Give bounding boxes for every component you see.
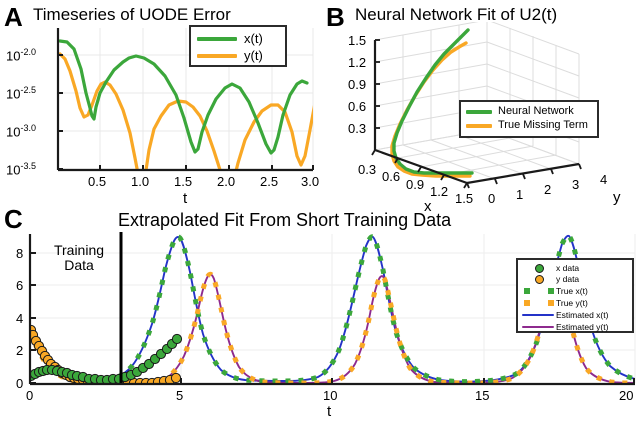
panel-a-legend-label-0: x(t) [244, 32, 263, 45]
legend-swatch-est-y [522, 326, 556, 328]
legend-swatch-x-data [522, 264, 556, 273]
legend-swatch-est-x [522, 314, 556, 316]
panel-a-xtick-0: 0.5 [88, 175, 106, 188]
panel-a-ytick-3: 10-3.5 [6, 162, 36, 176]
panel-c-ytick-0: 0 [16, 377, 23, 390]
panel-a-legend-item-0: x(t) [197, 32, 279, 45]
legend-swatch-y-data [522, 275, 556, 284]
panel-c-xtick-3: 15 [475, 389, 489, 402]
panel-a-xtick-3: 2.0 [217, 175, 235, 188]
panel-b-legend-item-1: True Missing Term [466, 120, 592, 131]
panel-b-xtick-4: 1.5 [455, 192, 473, 205]
circle-icon-orange [535, 275, 544, 284]
panel-c-legend-label-1: y data [556, 275, 579, 284]
panel-b-xtick-1: 0.6 [382, 170, 400, 183]
panel-c-legend-item-1: y data [522, 274, 628, 285]
panel-b-ytick-1: 1 [516, 188, 523, 201]
panel-a-xlabel: t [183, 191, 187, 206]
panel-a-title: Timeseries of UODE Error [33, 6, 231, 23]
panel-c-xlabel: t [327, 404, 331, 419]
panel-a-ytick-0: 10-2.0 [6, 48, 36, 62]
legend-swatch-line-green-b [466, 110, 492, 114]
panel-c-legend-label-2: True x(t) [556, 287, 588, 296]
panel-c-ytick-8: 8 [16, 247, 23, 260]
panel-c-legend: x data y data True x(t) True y(t) [516, 258, 634, 333]
panel-c-legend-label-3: True y(t) [556, 299, 588, 308]
panel-a-xtick-5: 3.0 [301, 175, 319, 188]
panel-b-xtick-0: 0.3 [358, 163, 376, 176]
panel-c-ytick-2: 2 [16, 344, 23, 357]
square-icon-green-2 [548, 288, 554, 294]
panel-c-legend-item-4: Estimated x(t) [522, 309, 628, 321]
panel-b-ztick-2: 0.9 [348, 78, 366, 91]
square-icon-orange-2 [548, 300, 554, 306]
panel-a-xtick-4: 2.5 [260, 175, 278, 188]
panel-b-ztick-4: 0.3 [348, 122, 366, 135]
panel-b-ytick-0: 0 [488, 192, 495, 205]
panel-a-xtick-1: 1.0 [131, 175, 149, 188]
panel-b-ztick-0: 1.5 [348, 34, 366, 47]
legend-swatch-line-orange [197, 54, 237, 58]
panel-b-ytick-2: 2 [544, 183, 551, 196]
panel-c-legend-item-0: x data [522, 263, 628, 274]
square-icon-orange-1 [524, 300, 530, 306]
training-data-annotation: Training Data [41, 243, 117, 272]
panel-c-xtick-4: 20 [619, 389, 633, 402]
panel-b-legend: Neural Network True Missing Term [459, 100, 599, 138]
legend-swatch-line-orange-b [466, 124, 492, 128]
panel-c-legend-item-2: True x(t) [522, 285, 628, 297]
circle-icon-green [535, 264, 544, 273]
panel-c-legend-item-3: True y(t) [522, 297, 628, 309]
panel-c-xtick-1: 5 [176, 389, 183, 402]
panel-b-ytick-3: 3 [572, 178, 579, 191]
panel-c-xtick-2: 10 [323, 389, 337, 402]
panel-b-legend-label-0: Neural Network [498, 106, 574, 117]
panel-a-ytick-2: 10-3.0 [6, 124, 36, 138]
panel-c-legend-label-4: Estimated x(t) [556, 311, 608, 320]
training-data-line-1: Training [41, 243, 117, 258]
legend-swatch-true-y [522, 300, 556, 306]
panel-b-ztick-1: 1.2 [348, 56, 366, 69]
line-icon-blue [522, 314, 554, 316]
panel-c-title: Extrapolated Fit From Short Training Dat… [118, 211, 451, 229]
training-data-line-2: Data [41, 258, 117, 273]
panel-a-ytick-1: 10-2.5 [6, 86, 36, 100]
panel-b-legend-label-1: True Missing Term [498, 120, 588, 131]
panel-a-legend: x(t) y(t) [189, 25, 287, 67]
panel-b-title: Neural Network Fit of U2(t) [355, 6, 557, 23]
panel-c-legend-label-5: Estimated y(t) [556, 323, 608, 332]
figure-root: A Timeseries of UODE Error [0, 0, 640, 424]
panel-c-legend-item-5: Estimated y(t) [522, 321, 628, 333]
panel-c-xtick-0: 0 [26, 389, 33, 402]
panel-a-legend-item-1: y(t) [197, 49, 279, 62]
square-icon-green-1 [524, 288, 530, 294]
legend-swatch-line-green [197, 37, 237, 41]
panel-b-xtick-2: 0.9 [406, 178, 424, 191]
panel-b-xtick-3: 1.2 [430, 185, 448, 198]
panel-letter-c: C [4, 206, 23, 232]
legend-swatch-true-x [522, 288, 556, 294]
line-icon-purple [522, 326, 554, 328]
panel-b-ylabel: y [613, 190, 621, 205]
panel-a-xtick-2: 1.5 [174, 175, 192, 188]
panel-c-ytick-6: 6 [16, 279, 23, 292]
panel-a-legend-label-1: y(t) [244, 49, 263, 62]
panel-b-ztick-3: 0.6 [348, 100, 366, 113]
panel-c-ytick-4: 4 [16, 312, 23, 325]
panel-c-legend-label-0: x data [556, 264, 579, 273]
panel-b-legend-item-0: Neural Network [466, 106, 592, 117]
panel-b-ytick-4: 4 [600, 173, 607, 186]
